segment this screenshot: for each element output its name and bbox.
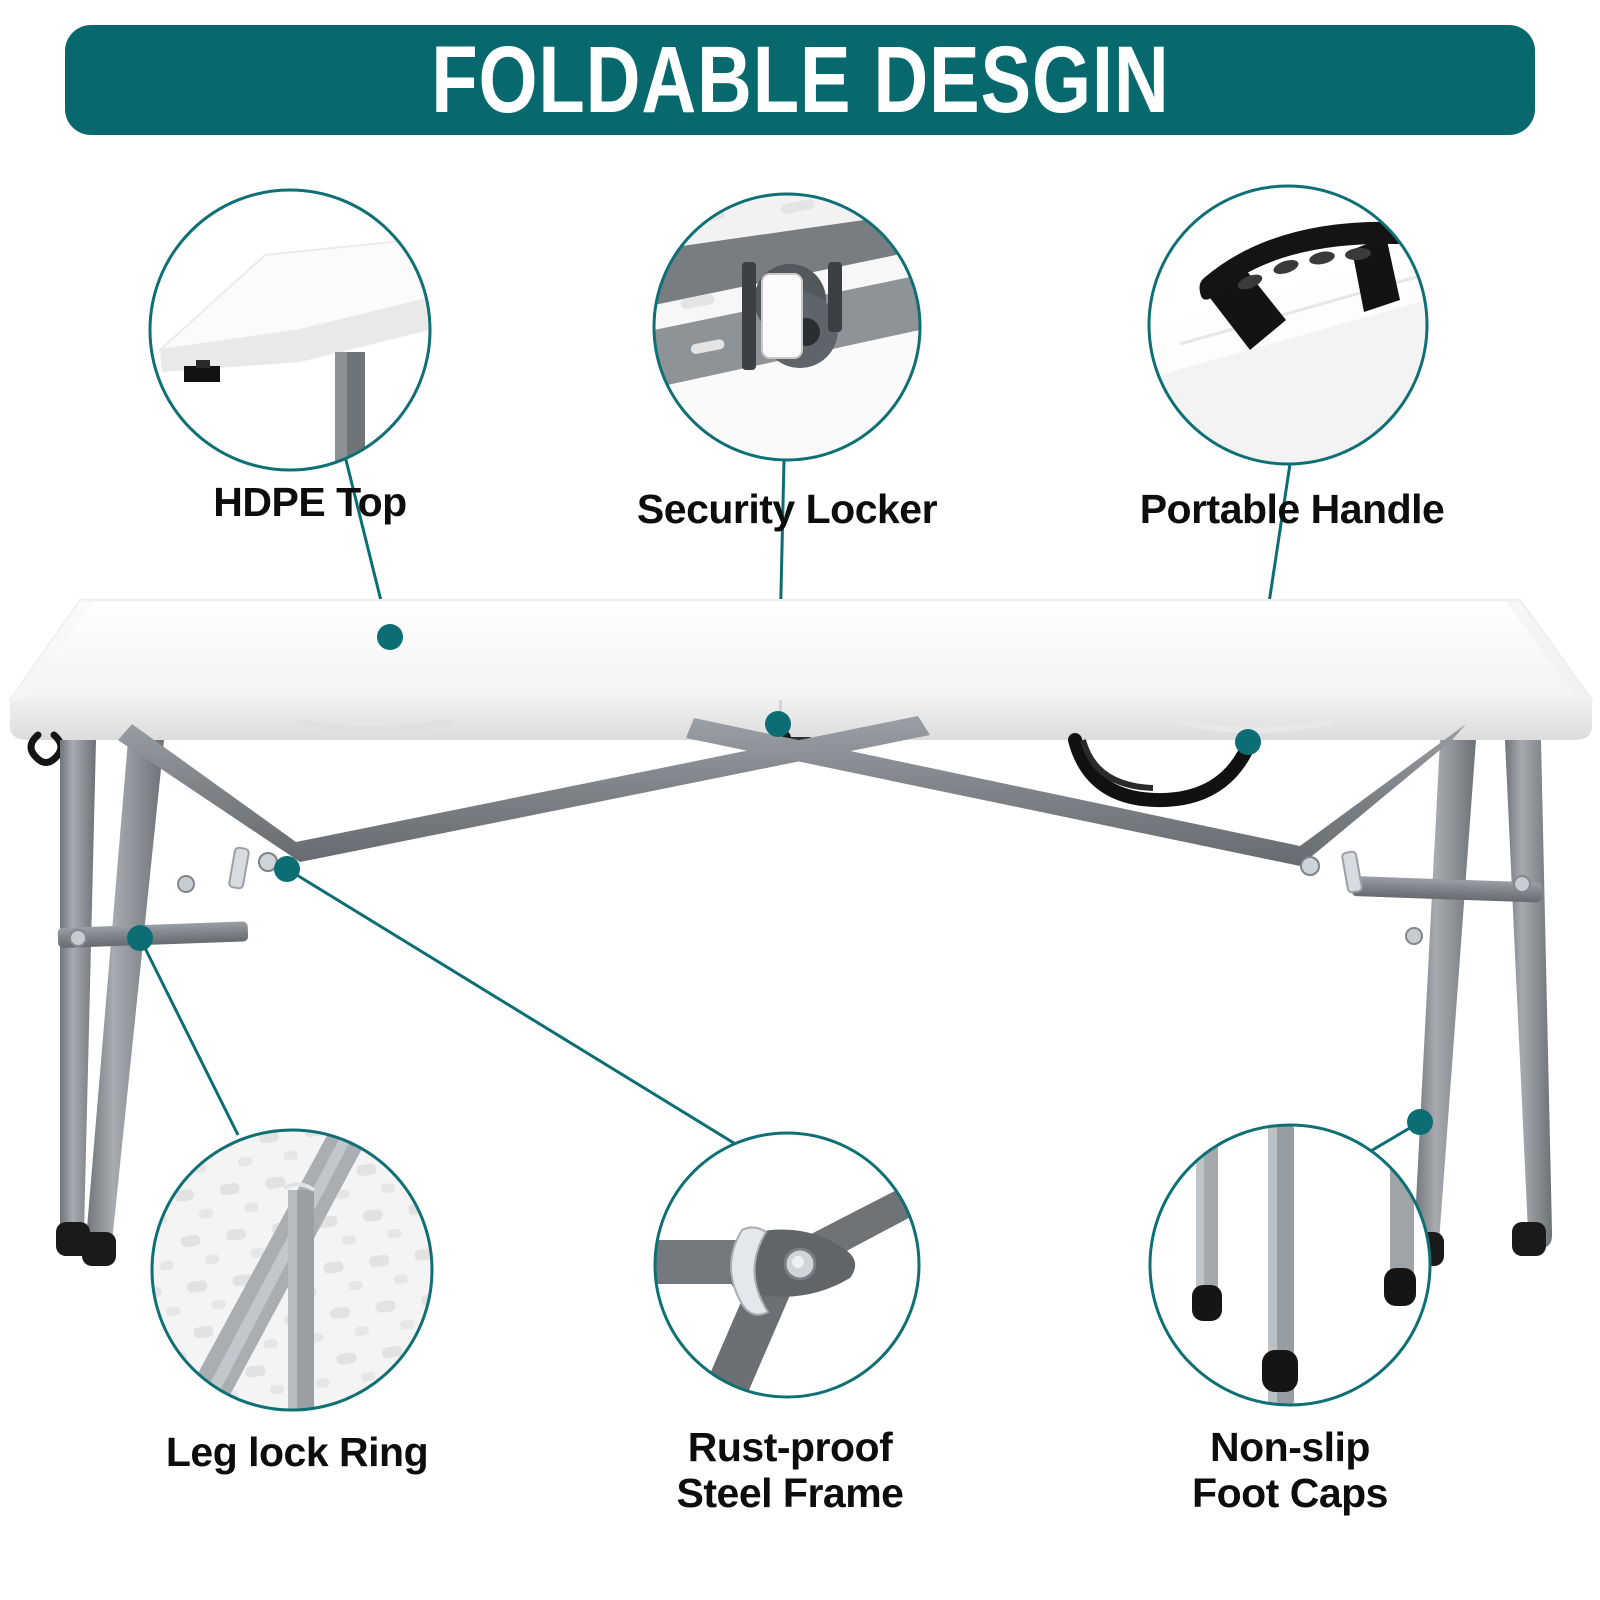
connector-lines	[140, 456, 1420, 1175]
callout-circle-portable-handle	[1149, 186, 1427, 464]
infographic-canvas: FOLDABLE DESGIN	[0, 0, 1600, 1600]
carry-handle-strap	[1075, 740, 1250, 800]
tabletop-edge	[10, 700, 1592, 740]
label-rust-proof-steel-frame: Rust-proof Steel Frame	[620, 1425, 960, 1517]
tabletop-surface	[10, 600, 1592, 700]
label-non-slip-foot-caps: Non-slip Foot Caps	[1120, 1425, 1460, 1517]
callout-circle-security-locker	[654, 194, 920, 460]
pointer-dot-security-locker	[765, 711, 791, 737]
label-security-locker: Security Locker	[582, 487, 992, 533]
callout-circle-non-slip-foot-caps	[1150, 1125, 1430, 1405]
foot-cap	[82, 1232, 116, 1266]
pointer-dot-rust-proof-steel-frame	[274, 856, 300, 882]
pointer-dot-portable-handle	[1235, 729, 1261, 755]
pointer-dot-hdpe-top	[377, 624, 403, 650]
brace-hinge-right	[1301, 851, 1362, 893]
pointer-dot-leg-lock-ring	[127, 925, 153, 951]
connector-leg-lock-ring	[140, 938, 238, 1135]
callout-circle-hdpe-top	[150, 190, 430, 472]
pointer-dot-non-slip-foot-caps	[1407, 1109, 1433, 1135]
label-leg-lock-ring: Leg lock Ring	[122, 1430, 472, 1476]
product-illustration	[0, 0, 1600, 1600]
connector-rust-proof-steel-frame	[287, 869, 742, 1148]
brace-hinge-left	[229, 847, 277, 889]
label-portable-handle: Portable Handle	[1082, 487, 1502, 533]
foot-cap	[1512, 1222, 1546, 1256]
callout-circle-leg-lock-ring	[152, 1130, 432, 1410]
support-braces	[118, 716, 1466, 893]
callout-circle-rust-proof-steel-frame	[655, 1133, 920, 1397]
label-hdpe-top: HDPE Top	[180, 480, 440, 526]
